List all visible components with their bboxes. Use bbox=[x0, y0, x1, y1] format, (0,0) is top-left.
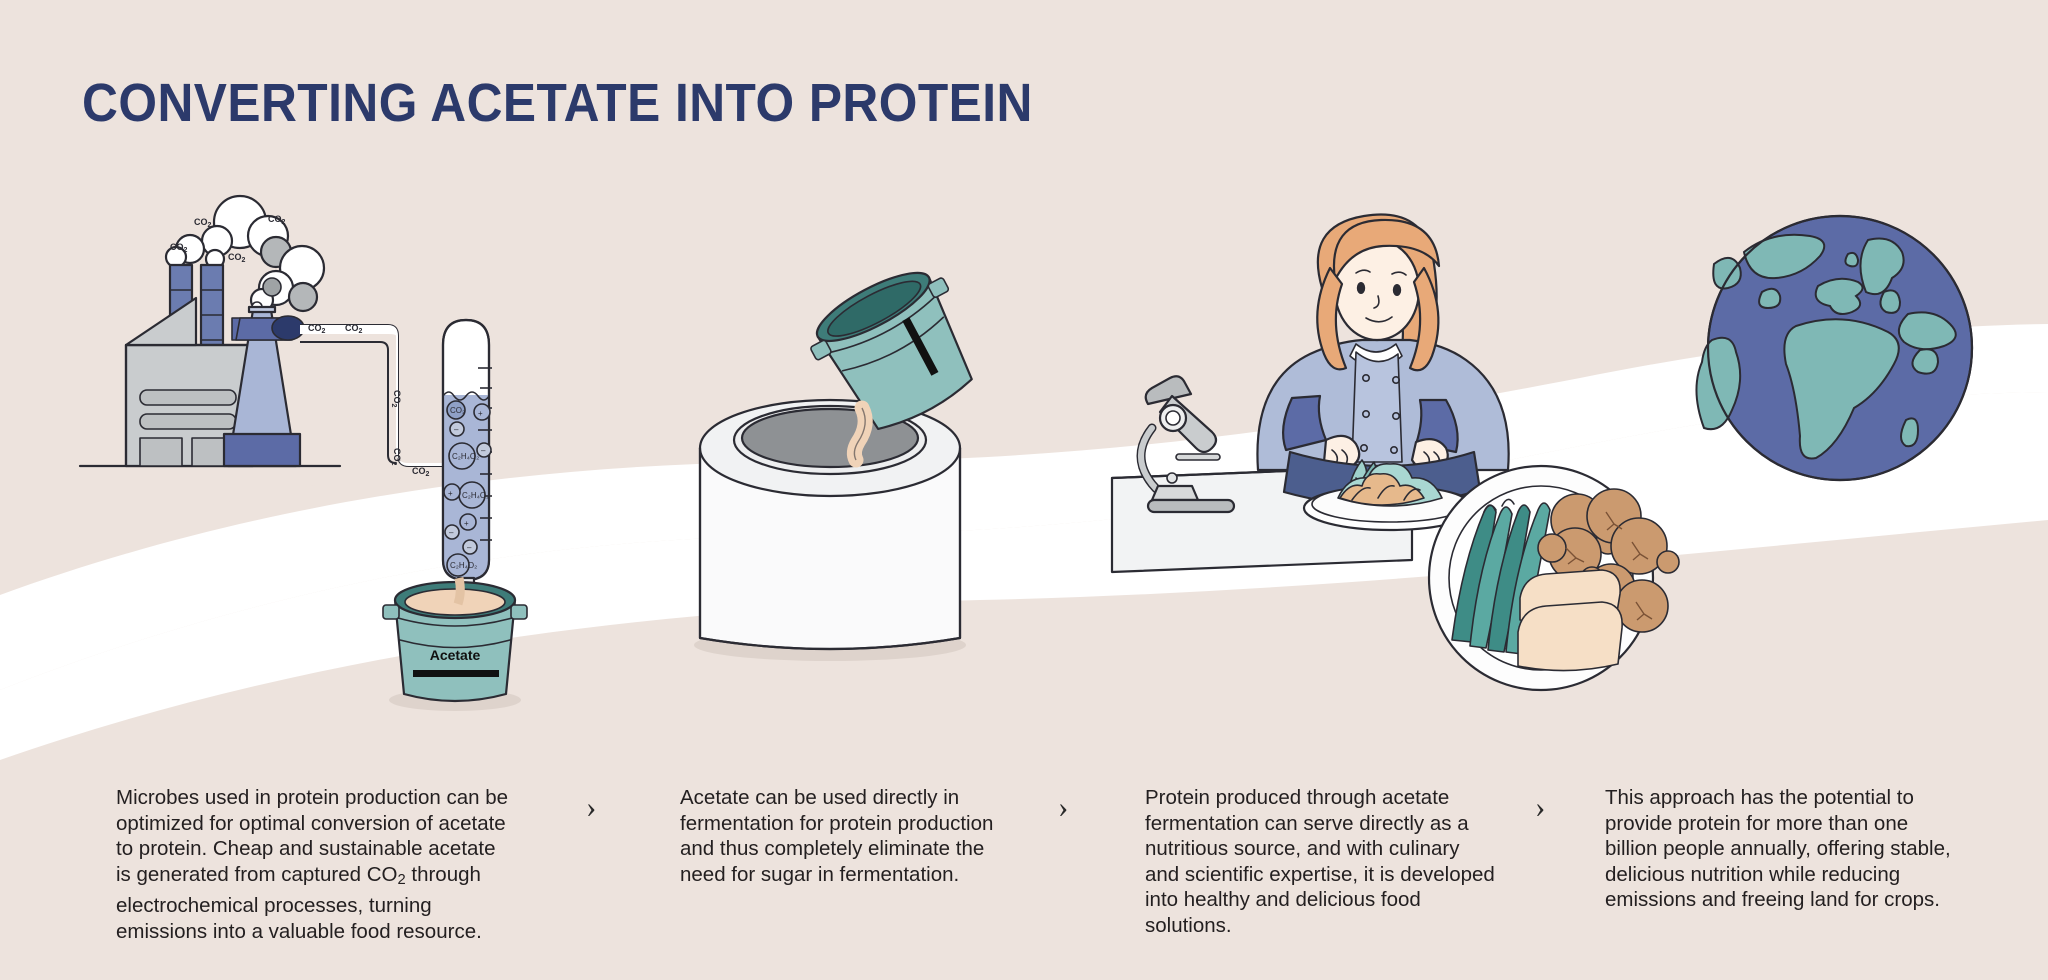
chevron-separator-2-icon: › bbox=[1058, 791, 1068, 822]
infographic-page: CONVERTING ACETATE INTO PROTEIN .ol { st… bbox=[0, 0, 2048, 980]
caption-step-3: Protein produced through acetate ferment… bbox=[1145, 785, 1495, 938]
caption-1-subscript: 2 bbox=[397, 872, 405, 888]
page-title: CONVERTING ACETATE INTO PROTEIN bbox=[82, 72, 1033, 134]
caption-step-1: Microbes used in protein production can … bbox=[116, 785, 516, 944]
caption-step-4: This approach has the potential to provi… bbox=[1605, 785, 1965, 913]
chevron-separator-1-icon: › bbox=[586, 791, 596, 822]
captions-row: Microbes used in protein production can … bbox=[0, 785, 2048, 980]
chevron-separator-3-icon: › bbox=[1535, 791, 1545, 822]
caption-step-2: Acetate can be used directly in fermenta… bbox=[680, 785, 1000, 887]
